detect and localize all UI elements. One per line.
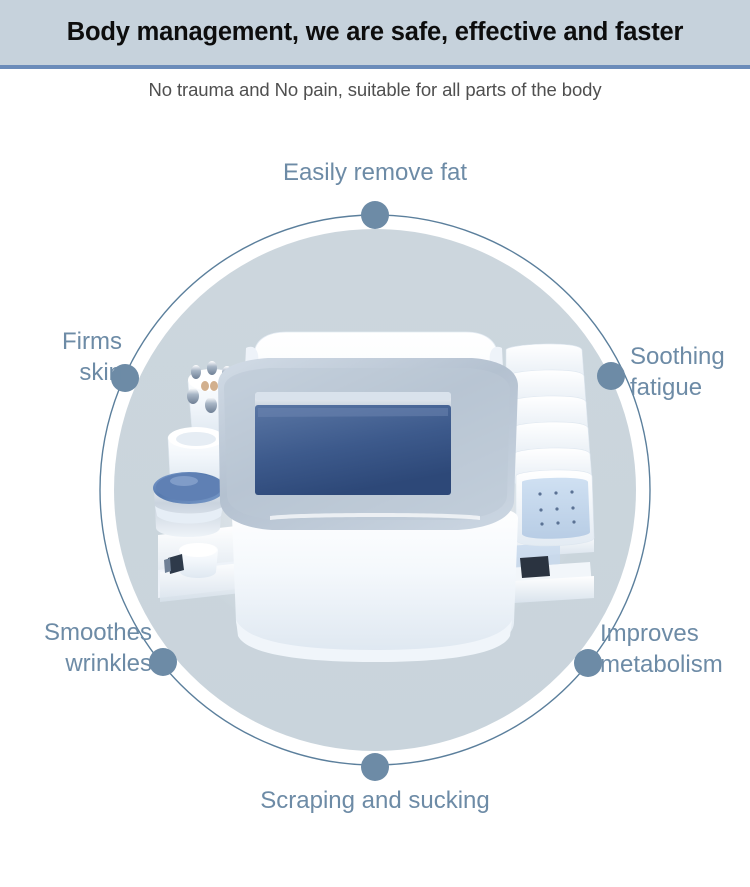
benefit-text-line1: Firms <box>22 326 122 357</box>
benefits-diagram: Easily remove fat Firms skin Soothing fa… <box>0 0 750 887</box>
benefit-text-line2: wrinkles <box>2 648 152 679</box>
product-image <box>150 320 600 670</box>
benefit-label-scraping-sucking: Scraping and sucking <box>0 785 750 816</box>
screen-display[interactable] <box>255 405 451 495</box>
product-illustration <box>150 320 600 670</box>
lcd-screen[interactable] <box>255 392 451 495</box>
benefit-label-improves-metabolism: Improves metabolism <box>600 618 750 680</box>
benefit-text-line2: skin <box>22 357 122 388</box>
benefit-text: Easily remove fat <box>283 159 467 186</box>
benefit-text: Scraping and sucking <box>260 787 489 814</box>
benefit-text-line1: Soothing <box>630 341 750 372</box>
benefit-label-smoothes-wrinkles: Smoothes wrinkles <box>2 617 152 679</box>
benefit-text-line2: metabolism <box>600 649 750 680</box>
benefit-text-line1: Smoothes <box>2 617 152 648</box>
vacuum-rf-disc-handle <box>153 472 225 537</box>
benefit-text-line2: fatigue <box>630 372 750 403</box>
dot-top[interactable] <box>361 201 389 229</box>
benefit-label-firms-skin: Firms skin <box>22 326 122 388</box>
lipo-laser-pads <box>506 344 594 546</box>
benefit-text-line1: Improves <box>600 618 750 649</box>
dot-bottom[interactable] <box>361 753 389 781</box>
benefit-label-remove-fat: Easily remove fat <box>0 157 750 188</box>
benefit-label-soothing-fatigue: Soothing fatigue <box>630 341 750 403</box>
dot-right-top[interactable] <box>597 362 625 390</box>
